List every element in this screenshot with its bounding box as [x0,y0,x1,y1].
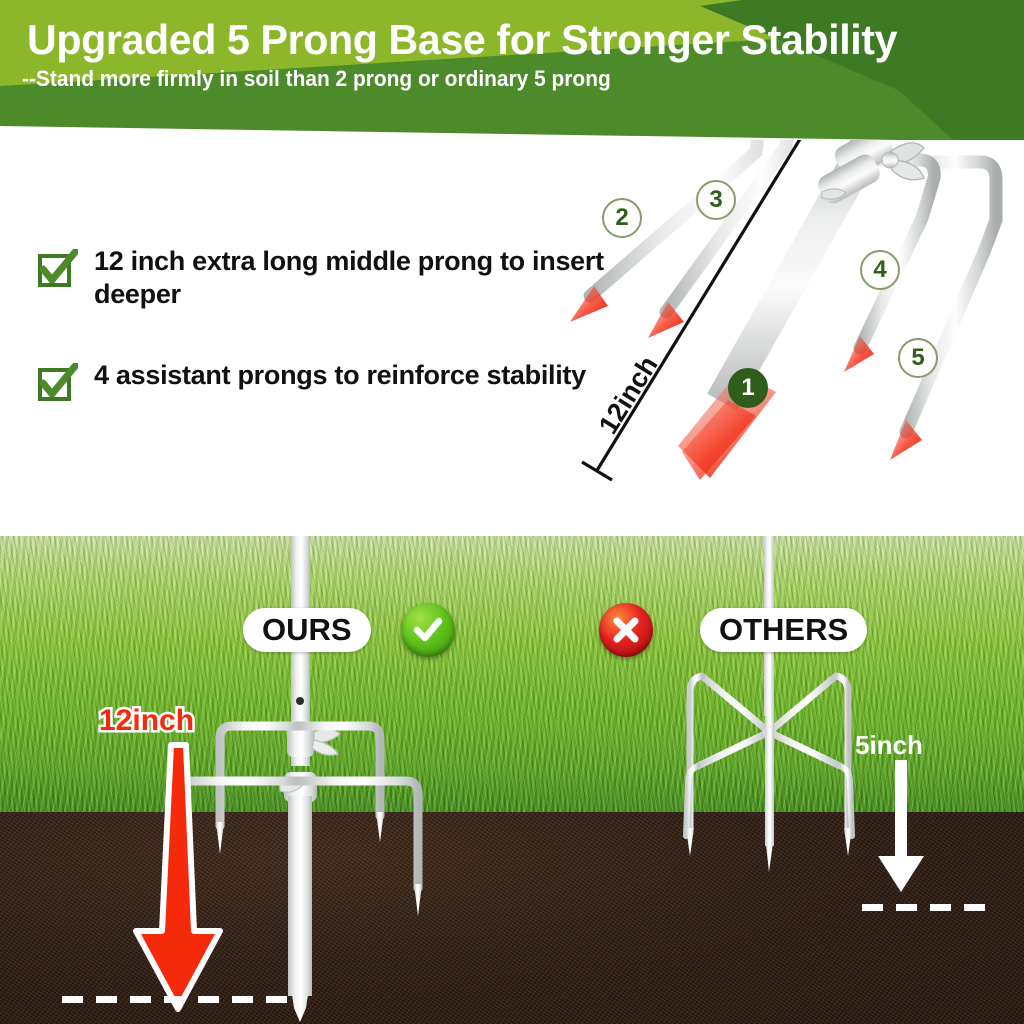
others-depth-baseline [862,904,992,911]
header-subtitle: --Stand more firmly in soil than 2 prong… [22,66,611,92]
cross-icon [611,615,641,645]
ours-depth-label: 12inch [99,704,194,738]
check-mark-icon [36,249,78,291]
others-tag: OTHERS [700,608,867,652]
header-title: Upgraded 5 Prong Base for Stronger Stabi… [27,16,997,64]
checkbox-check-icon [36,249,78,291]
feature-list: 12 inch extra long middle prong to inser… [36,245,616,453]
checkbox-check-icon [36,363,78,405]
product-infographic: Upgraded 5 Prong Base for Stronger Stabi… [0,0,1024,1024]
header-banner: Upgraded 5 Prong Base for Stronger Stabi… [0,0,1024,140]
prong-badge-5: 5 [898,338,938,378]
feature-item: 12 inch extra long middle prong to inser… [36,245,616,311]
ours-depth-baseline [62,996,294,1003]
others-depth-label: 5inch [855,730,923,761]
green-check-badge-icon [401,603,455,657]
prong-badge-3: 3 [696,180,736,220]
white-down-arrow-icon [866,760,936,896]
comparison-panel: OURS OTHERS 12inch 5inch [0,536,1024,1024]
red-cross-badge-icon [599,603,653,657]
feature-item: 4 assistant prongs to reinforce stabilit… [36,359,616,405]
prong-badge-2: 2 [602,198,642,238]
feature-label: 4 assistant prongs to reinforce stabilit… [94,359,586,392]
features-panel: 12 inch extra long middle prong to inser… [0,140,1024,536]
prong-badge-4: 4 [860,250,900,290]
check-mark-icon [36,363,78,405]
prong-badge-1: 1 [728,368,768,408]
feature-label: 12 inch extra long middle prong to inser… [94,245,616,311]
prong-base-diagram: 1 2 3 4 5 12inch [560,140,1024,530]
check-icon [411,613,445,647]
ours-tag: OURS [243,608,371,652]
red-down-arrow-icon [124,741,232,1016]
